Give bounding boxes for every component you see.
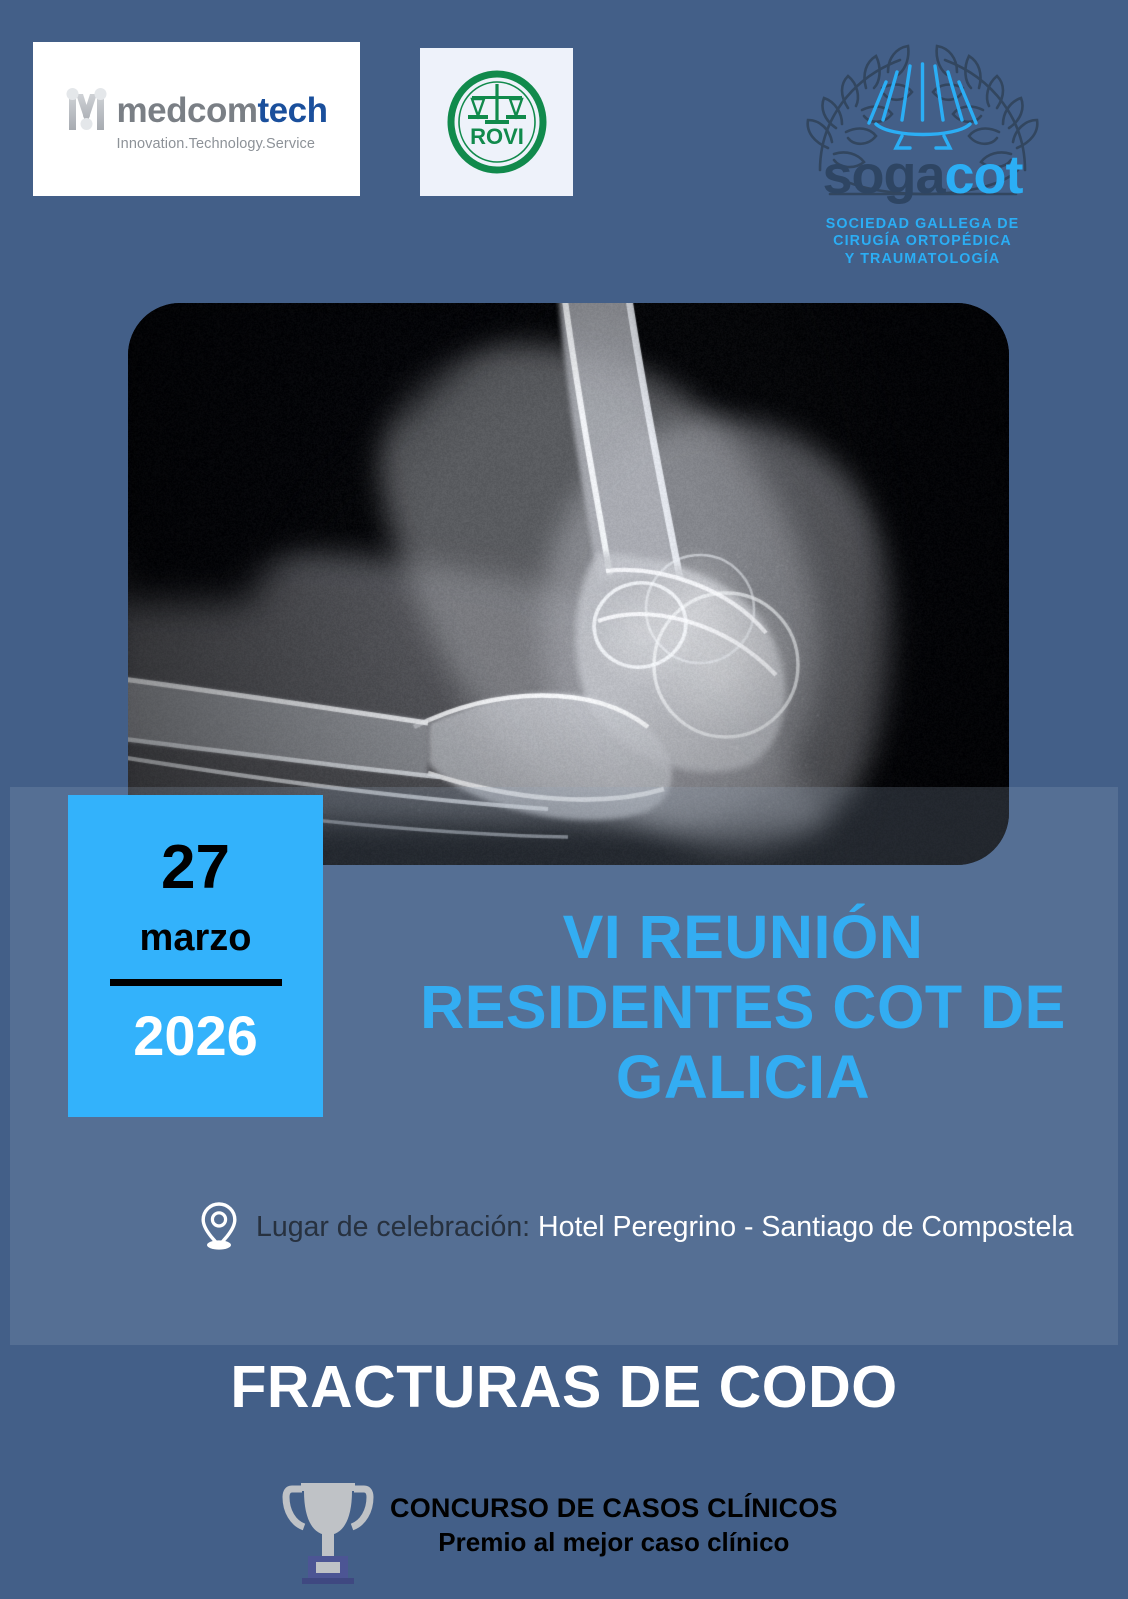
event-date-day: 27 [68, 837, 323, 899]
sogacot-subtitle-line2: CIRUGÍA ORTOPÉDICA [790, 233, 1055, 250]
event-date-month: marzo [68, 919, 323, 957]
medcomtech-name-part1: medcom [117, 91, 258, 130]
venue-row: Lugar de celebración: Hotel Peregrino - … [200, 1200, 1080, 1255]
date-divider [110, 979, 282, 986]
medcomtech-name-part2: tech [257, 91, 327, 130]
logo-sogacot: sogacot SOCIEDAD GALLEGA DE CIRUGÍA ORTO… [790, 20, 1055, 282]
event-title: VI REUNIÓN RESIDENTES COT DE GALICIA [398, 902, 1088, 1112]
venue-label: Lugar de celebración: [256, 1211, 530, 1243]
medcomtech-tagline: Innovation.Technology.Service [117, 136, 316, 152]
sogacot-name-part2: cot [945, 145, 1023, 205]
logo-medcomtech: medcomtech Innovation.Technology.Service [33, 42, 360, 196]
conference-poster: medcomtech Innovation.Technology.Service… [0, 0, 1128, 1599]
contest-heading: CONCURSO DE CASOS CLÍNICOS [390, 1493, 838, 1525]
sogacot-subtitle-line3: Y TRAUMATOLOGÍA [790, 251, 1055, 268]
location-pin-icon [200, 1200, 238, 1255]
medcomtech-m-mark-icon [66, 86, 108, 134]
sogacot-subtitle-line1: SOCIEDAD GALLEGA DE [790, 216, 1055, 233]
rovi-wordmark: ROVI [470, 124, 524, 149]
logo-rovi: ROVI [420, 48, 573, 196]
venue-value: Hotel Peregrino - Santiago de Compostela [538, 1211, 1073, 1243]
sogacot-subtitle: SOCIEDAD GALLEGA DE CIRUGÍA ORTOPÉDICA Y… [790, 216, 1055, 268]
topic-title: FRACTURAS DE CODO [0, 1358, 1128, 1417]
sogacot-name-part1: soga [822, 145, 944, 205]
elbow-xray-image [128, 303, 1009, 865]
event-date-year: 2026 [68, 1008, 323, 1064]
event-date-box: 27 marzo 2026 [68, 795, 323, 1117]
rovi-emblem-icon: ROVI [441, 66, 553, 178]
contest-subtitle: Premio al mejor caso clínico [390, 1527, 838, 1558]
trophy-icon [280, 1455, 376, 1595]
sponsor-logo-bar: medcomtech Innovation.Technology.Service… [0, 0, 1128, 290]
contest-row: CONCURSO DE CASOS CLÍNICOS Premio al mej… [280, 1455, 838, 1595]
